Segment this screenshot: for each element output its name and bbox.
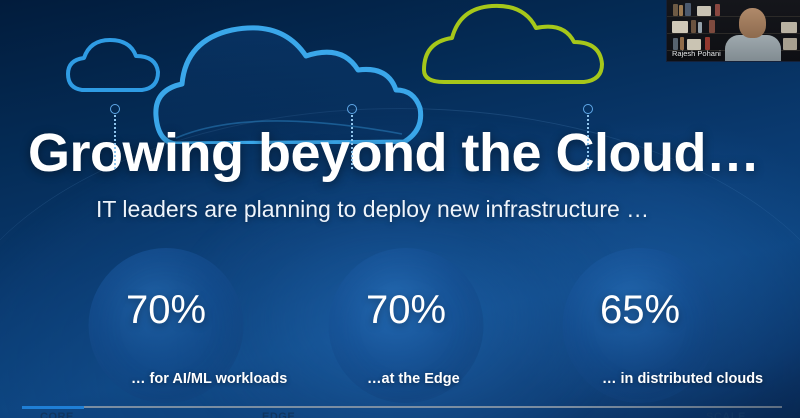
- stat-item: 70%: [286, 248, 526, 418]
- book: [781, 22, 797, 33]
- stat-value: 70%: [366, 290, 446, 330]
- presentation-slide: Growing beyond the Cloud… IT leaders are…: [0, 0, 800, 418]
- webcam-participant-tile[interactable]: Rajesh Pohani: [666, 0, 800, 62]
- connector-dotted-line: [587, 115, 589, 170]
- participant-name-label: Rajesh Pohani: [672, 50, 721, 58]
- book: [783, 38, 797, 50]
- participant-head: [739, 8, 766, 38]
- stat-item: 65%: [520, 248, 760, 418]
- stat-caption: …at the Edge: [367, 372, 460, 387]
- stats-group: 70% 70% 65%: [0, 248, 800, 418]
- timeline-label: EDGE: [262, 412, 295, 418]
- slide-title: Growing beyond the Cloud…: [28, 126, 788, 180]
- book: [697, 6, 711, 16]
- shelf-line: [667, 16, 800, 17]
- connector-ring-icon: [110, 104, 120, 114]
- connector-ring-icon: [583, 104, 593, 114]
- connector-dotted-line: [351, 115, 353, 170]
- stat-item: 70%: [46, 248, 286, 418]
- timeline-label: SCALE: [706, 412, 746, 418]
- participant-body: [725, 35, 781, 62]
- stat-value: 70%: [126, 290, 206, 330]
- timeline-track: [22, 406, 782, 408]
- shelf-line: [667, 33, 800, 34]
- timeline-bar: CORE EDGE SCALE: [0, 396, 800, 418]
- cloud-small-icon: [68, 40, 158, 90]
- cloud-green-icon: [424, 6, 602, 82]
- book: [672, 21, 688, 33]
- stat-caption: … for AI/ML workloads: [131, 372, 287, 387]
- book: [709, 20, 715, 33]
- book: [715, 4, 720, 16]
- slide-subtitle: IT leaders are planning to deploy new in…: [96, 198, 796, 221]
- book: [691, 20, 696, 33]
- connector-ring-icon: [347, 104, 357, 114]
- book: [685, 3, 691, 16]
- stat-connector: [583, 104, 593, 170]
- timeline-progress-fill: [22, 406, 84, 409]
- stat-caption: … in distributed clouds: [602, 372, 763, 387]
- timeline-label: CORE: [40, 412, 74, 418]
- book: [698, 22, 702, 33]
- stat-connector: [347, 104, 357, 170]
- book: [673, 4, 678, 16]
- connector-dotted-line: [114, 115, 116, 170]
- stat-connector: [110, 104, 120, 170]
- stat-value: 65%: [600, 290, 680, 330]
- book: [679, 5, 683, 16]
